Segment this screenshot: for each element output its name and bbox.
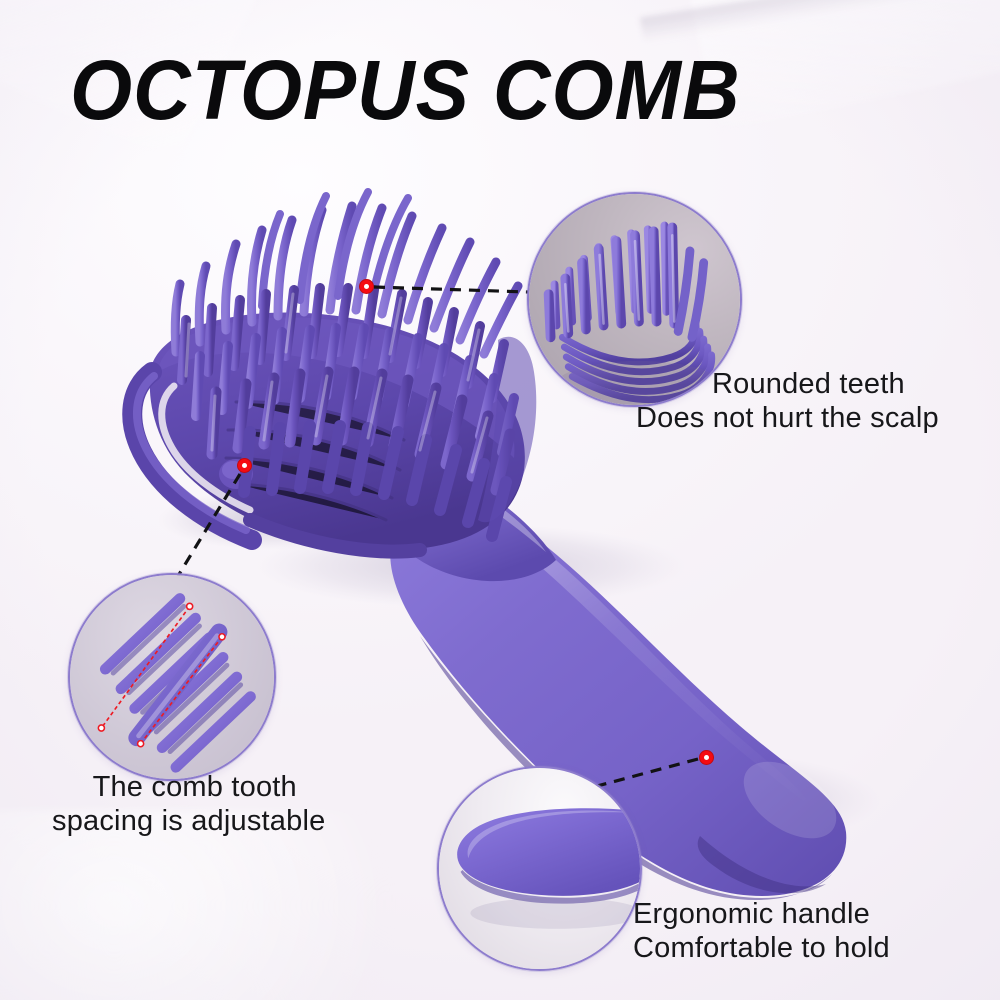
caption-rounded-teeth: Rounded teeth Does not hurt the scalp: [636, 368, 939, 435]
caption-line-1: Ergonomic handle: [633, 898, 890, 932]
caption-line-2: spacing is adjustable: [52, 805, 325, 839]
detail-art-adjustable-spacing: [70, 575, 274, 779]
caption-ergonomic-handle: Ergonomic handle Comfortable to hold: [633, 898, 890, 965]
detail-art-ergonomic-handle: [439, 768, 640, 969]
caption-line-1: Rounded teeth: [678, 368, 939, 402]
caption-adjustable-spacing: The comb tooth spacing is adjustable: [52, 771, 325, 838]
infographic-canvas: OCTOPUS COMB: [0, 0, 1000, 1000]
caption-line-1: The comb tooth: [64, 771, 325, 805]
detail-circle-ergonomic-handle: [437, 766, 642, 971]
detail-circle-adjustable-spacing: [68, 573, 276, 781]
caption-line-2: Comfortable to hold: [633, 932, 890, 966]
caption-line-2: Does not hurt the scalp: [636, 402, 939, 436]
